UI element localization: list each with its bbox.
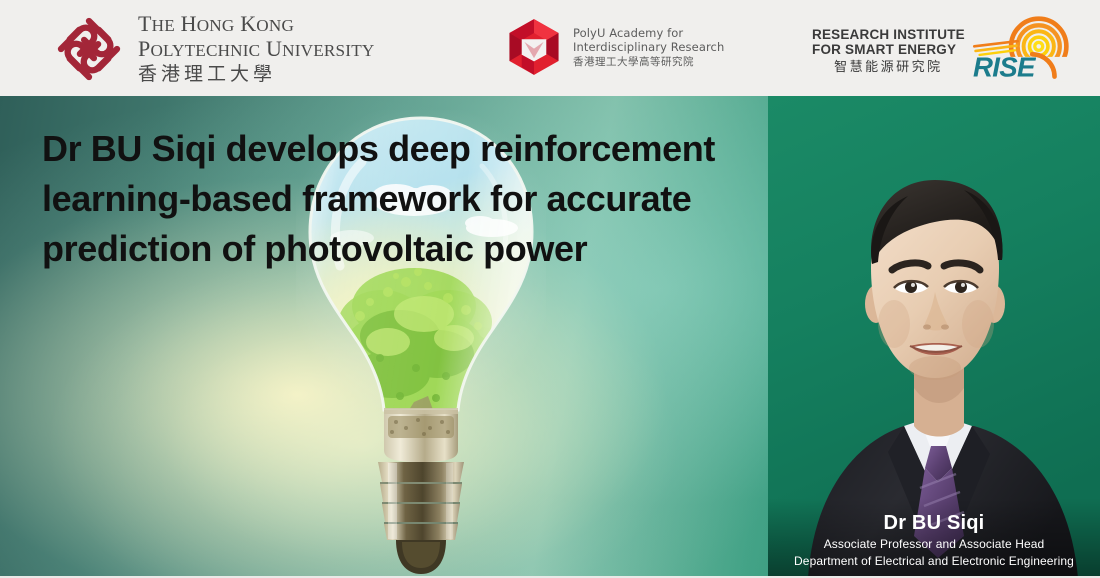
rise-name-chinese: 智慧能源研究院 bbox=[812, 60, 965, 75]
headline-line-1: Dr BU Siqi develops deep reinforcement bbox=[42, 124, 782, 174]
person-role: Associate Professor and Associate Head bbox=[768, 536, 1100, 553]
headline: Dr BU Siqi develops deep reinforcement l… bbox=[42, 124, 782, 274]
polyu-name-chinese: 香港理工大學 bbox=[138, 65, 374, 84]
pair-name-chinese: 香港理工大學高等研究院 bbox=[573, 56, 724, 69]
pair-cube-emblem-icon bbox=[506, 18, 562, 76]
rise-name-line-1: RESEARCH INSTITUTE bbox=[812, 27, 965, 43]
polyu-knot-emblem-icon bbox=[54, 14, 124, 84]
logo-rise[interactable]: RESEARCH INSTITUTE FOR SMART ENERGY 智慧能源… bbox=[812, 20, 1069, 82]
pair-name-line-2: Interdisciplinary Research bbox=[573, 40, 724, 54]
rise-sunburst-emblem-icon: RISE bbox=[969, 16, 1069, 82]
polyu-name-line-1: THE HONG KONG bbox=[138, 13, 374, 35]
headline-line-2: learning-based framework for accurate bbox=[42, 174, 782, 224]
person-name: Dr BU Siqi bbox=[768, 510, 1100, 536]
rise-name-line-2: FOR SMART ENERGY bbox=[812, 42, 965, 58]
pair-wordmark: PolyU Academy for Interdisciplinary Rese… bbox=[573, 26, 724, 69]
portrait-panel bbox=[768, 96, 1100, 578]
header-logo-bar: THE HONG KONG POLYTECHNIC UNIVERSITY 香港理… bbox=[0, 0, 1100, 96]
rise-wordmark: RESEARCH INSTITUTE FOR SMART ENERGY 智慧能源… bbox=[812, 27, 965, 75]
person-caption: Dr BU Siqi Associate Professor and Assoc… bbox=[768, 510, 1100, 570]
person-department: Department of Electrical and Electronic … bbox=[768, 553, 1100, 570]
svg-text:RISE: RISE bbox=[973, 52, 1037, 82]
news-banner: THE HONG KONG POLYTECHNIC UNIVERSITY 香港理… bbox=[0, 0, 1100, 578]
logo-pair[interactable]: PolyU Academy for Interdisciplinary Rese… bbox=[506, 18, 724, 76]
logo-polyu[interactable]: THE HONG KONG POLYTECHNIC UNIVERSITY 香港理… bbox=[54, 13, 374, 84]
headline-line-3: prediction of photovoltaic power bbox=[42, 224, 782, 274]
polyu-wordmark: THE HONG KONG POLYTECHNIC UNIVERSITY 香港理… bbox=[138, 13, 374, 84]
polyu-name-line-2: POLYTECHNIC UNIVERSITY bbox=[138, 38, 374, 60]
pair-name-line-1: PolyU Academy for bbox=[573, 26, 724, 40]
portrait-photo bbox=[768, 96, 1100, 578]
